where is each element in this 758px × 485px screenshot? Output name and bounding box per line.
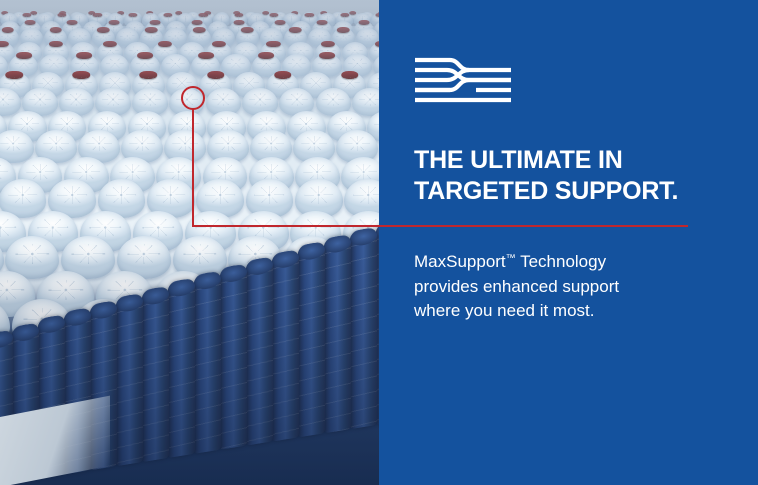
body-copy: MaxSupport™ Technology provides enhanced… [414,250,714,324]
body-line-2: provides enhanced support [414,275,714,300]
navy-coil-column [116,293,143,466]
navy-coil-column [350,227,377,429]
navy-coil-column [194,271,221,454]
headline-line-1: THE ULTIMATE IN [414,145,734,176]
navy-coil-column [272,249,299,442]
navy-coil-column [246,256,273,445]
navy-coil-column [220,264,247,450]
navy-coil-column [298,242,325,438]
wave-lines-logo-icon [414,55,512,103]
floor-bottom [0,445,380,485]
body-line-3: where you need it most. [414,299,714,324]
navy-coil-column [324,234,351,433]
navy-coil-column [142,286,169,463]
body-line-1-rest: Technology [516,252,606,271]
product-name: MaxSupport [414,252,506,271]
page-title: THE ULTIMATE IN TARGETED SUPPORT. [414,145,734,206]
body-line-1: MaxSupport™ Technology [414,250,714,275]
promo-banner: THE ULTIMATE IN TARGETED SUPPORT. MaxSup… [0,0,758,485]
content-panel: THE ULTIMATE IN TARGETED SUPPORT. MaxSup… [379,0,758,485]
headline-line-2: TARGETED SUPPORT. [414,176,734,207]
trademark-symbol: ™ [506,253,516,264]
mattress-photo [0,0,380,485]
navy-coil-column [168,278,195,458]
